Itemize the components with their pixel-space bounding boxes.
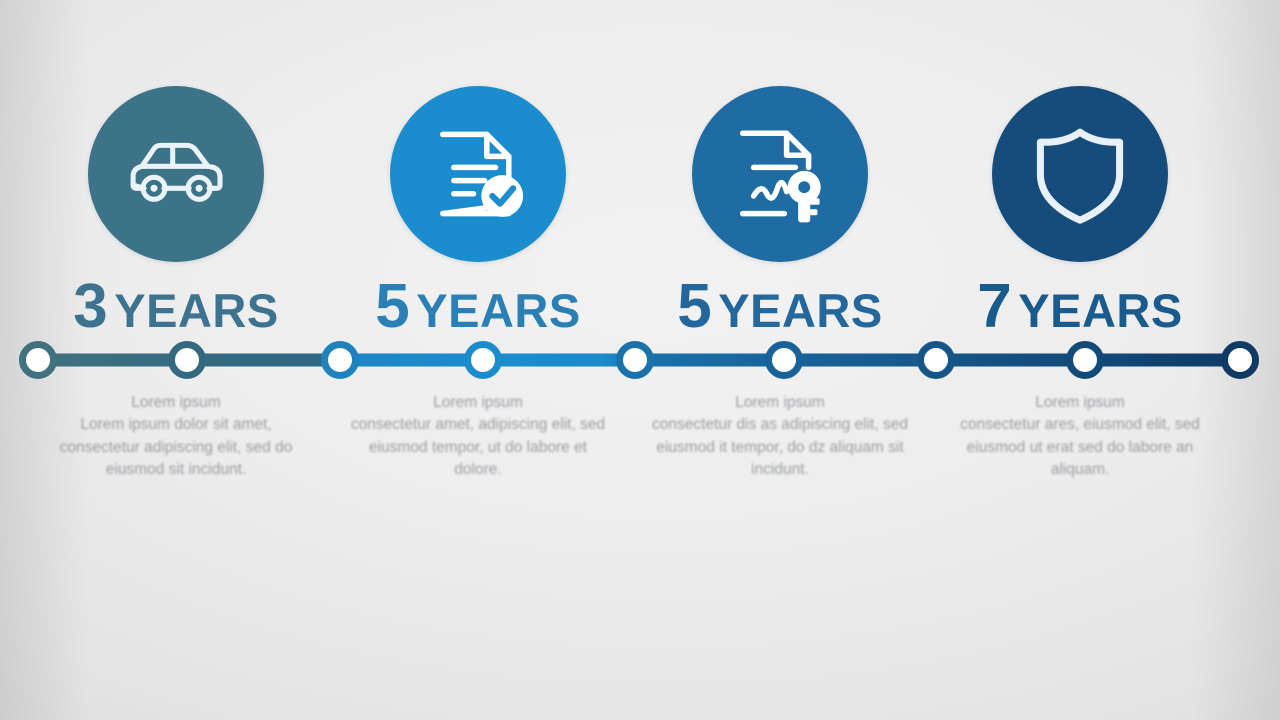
timeline-node[interactable] [468, 345, 499, 376]
timeline-node[interactable] [325, 345, 356, 376]
timeline-column-warranty-extended[interactable]: 5 YEARS Lorem ipsum consectetur amet, ad… [328, 86, 628, 482]
body-copy-warranty-protection: Lorem ipsum consectetur ares, eiusmod el… [930, 392, 1230, 482]
timeline-node[interactable] [1225, 345, 1256, 376]
document-check-icon [423, 119, 533, 229]
icon-circle-document-key[interactable] [692, 86, 868, 262]
timeline-node[interactable] [620, 345, 651, 376]
body-line-1: Lorem ipsum dolor sit amet, [80, 416, 271, 433]
key-shape [788, 171, 821, 223]
body-lead: Lorem ipsum [346, 392, 610, 414]
icon-circle-car[interactable] [88, 86, 264, 262]
shield-icon [1025, 119, 1135, 229]
heading-number: 5 [677, 276, 711, 338]
heading-warranty-contract: 5 YEARS [630, 276, 930, 338]
timeline-node[interactable] [23, 345, 54, 376]
heading-word: YEARS [718, 287, 882, 334]
body-lead: Lorem ipsum [948, 392, 1212, 414]
document-key-icon [725, 119, 835, 229]
body-copy-warranty-basic: Lorem ipsum Lorem ipsum dolor sit amet, … [26, 392, 326, 482]
timeline-node[interactable] [769, 345, 800, 376]
body-lead: Lorem ipsum [648, 392, 912, 414]
body-line-3: eiusmod sit incidunt. [106, 461, 246, 478]
heading-warranty-protection: 7 YEARS [930, 276, 1230, 338]
timeline-column-warranty-contract[interactable]: 5 YEARS Lorem ipsum consectetur dis as a… [630, 86, 930, 482]
infographic-canvas: 3 YEARS Lorem ipsum Lorem ipsum dolor si… [0, 0, 1280, 720]
heading-number: 7 [977, 276, 1011, 338]
body-copy-warranty-extended: Lorem ipsum consectetur amet, adipiscing… [328, 392, 628, 482]
icon-circle-shield[interactable] [992, 86, 1168, 262]
timeline-node[interactable] [1070, 345, 1101, 376]
car-icon [121, 119, 231, 229]
body-line-1: consectetur dis as adipiscing elit, [652, 416, 879, 433]
timeline-node[interactable] [172, 345, 203, 376]
timeline-column-warranty-protection[interactable]: 7 YEARS Lorem ipsum consectetur ares, ei… [930, 86, 1230, 482]
heading-number: 5 [375, 276, 409, 338]
body-line-2: consectetur adipiscing elit, sed do [60, 439, 293, 456]
heading-word: YEARS [416, 287, 580, 334]
body-line-1: consectetur amet, adipiscing elit, [351, 416, 576, 433]
heading-word: YEARS [1018, 287, 1182, 334]
heading-number: 3 [73, 276, 107, 338]
body-copy-warranty-contract: Lorem ipsum consectetur dis as adipiscin… [630, 392, 930, 482]
timeline-bar[interactable] [0, 330, 1280, 390]
heading-warranty-extended: 5 YEARS [328, 276, 628, 338]
timeline-node[interactable] [921, 345, 952, 376]
icon-circle-document-check[interactable] [390, 86, 566, 262]
heading-word: YEARS [114, 287, 278, 334]
body-line-1: consectetur ares, eiusmod elit, [960, 416, 1170, 433]
timeline-column-warranty-basic[interactable]: 3 YEARS Lorem ipsum Lorem ipsum dolor si… [26, 86, 326, 482]
body-lead: Lorem ipsum [44, 392, 308, 414]
heading-warranty-basic: 3 YEARS [26, 276, 326, 338]
